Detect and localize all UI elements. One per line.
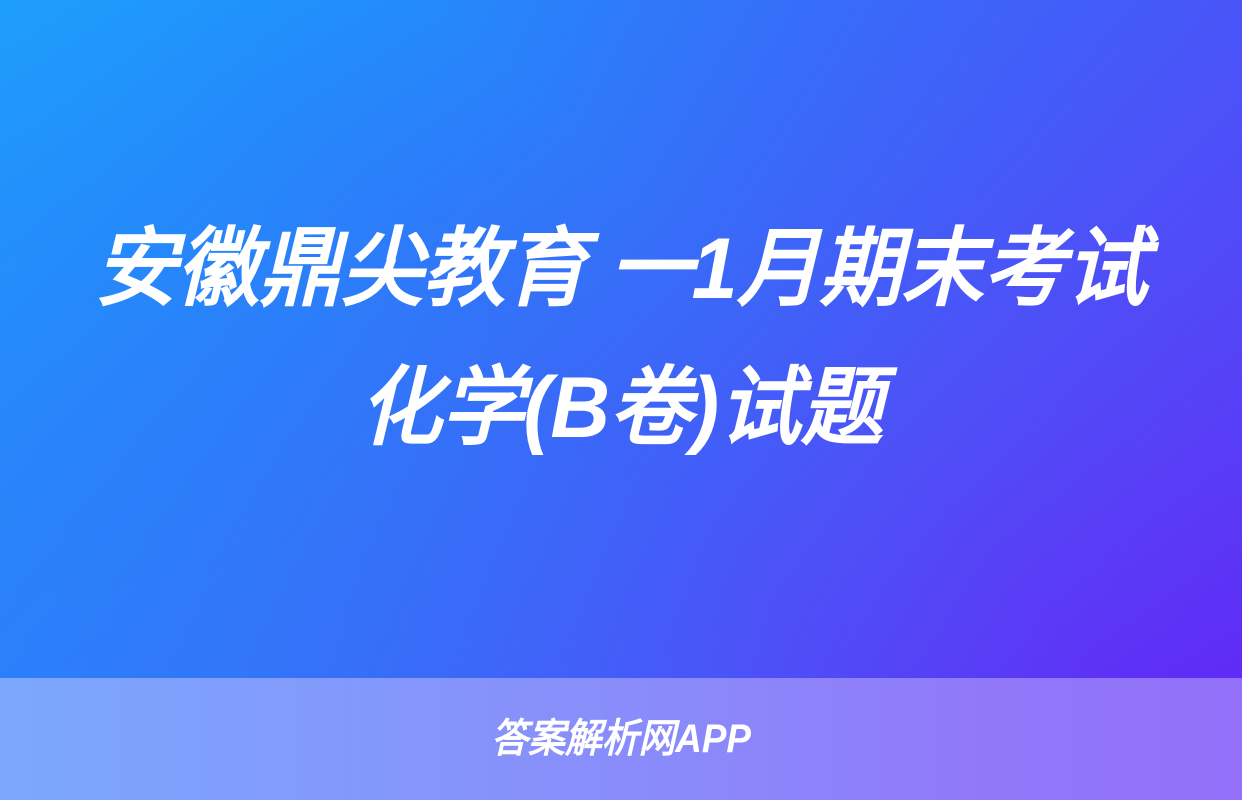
exam-cover-screen: 安徽鼎尖教育 一1月期末考试化学(B卷)试题 答案解析网APP — [0, 0, 1242, 800]
page-title: 安徽鼎尖教育 一1月期末考试化学(B卷)试题 — [88, 200, 1154, 479]
app-watermark-label: 答案解析网APP — [491, 719, 751, 759]
watermark-band: 答案解析网APP — [0, 678, 1242, 800]
hero-banner: 安徽鼎尖教育 一1月期末考试化学(B卷)试题 — [0, 0, 1242, 678]
